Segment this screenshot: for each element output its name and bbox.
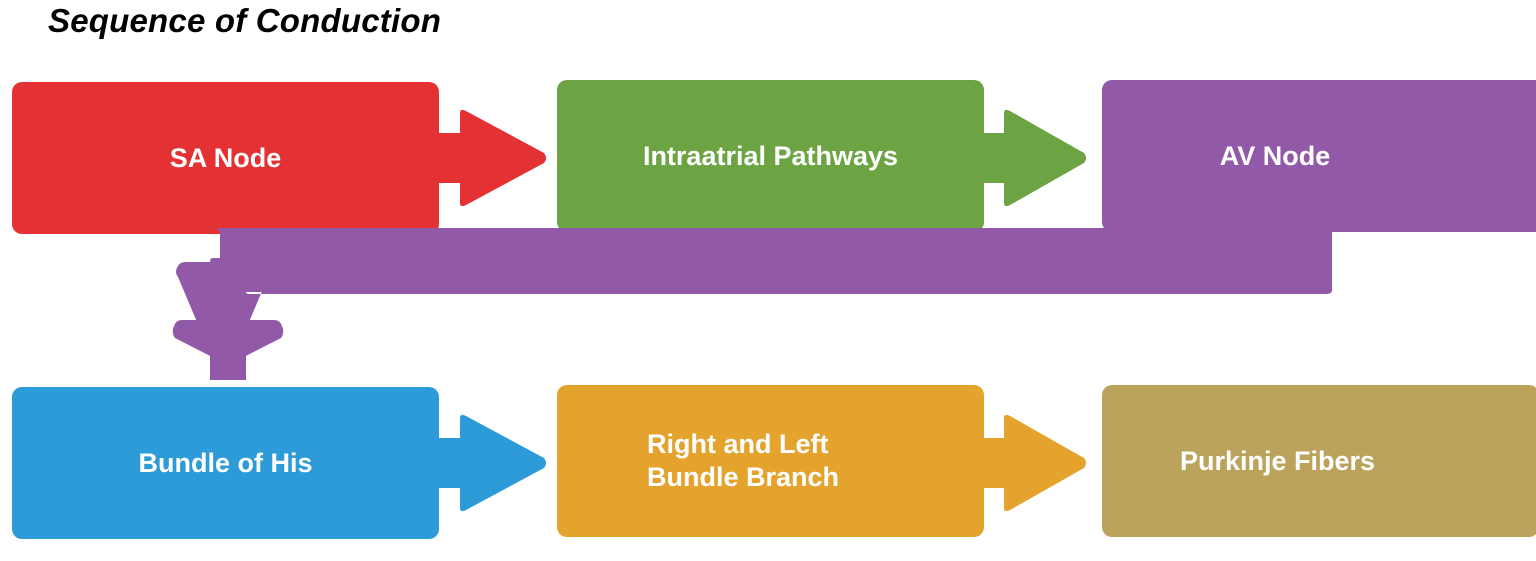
- node-intraatrial-pathways[interactable]: Intraatrial Pathways: [557, 80, 984, 232]
- connector-his-to-bundle-branch-arrow-icon: [430, 413, 548, 513]
- node-label-bundle-of-his: Bundle of His: [12, 447, 439, 480]
- connector-av-to-bundle-of-his-shape: [170, 228, 1332, 380]
- node-bundle-of-his[interactable]: Bundle of His: [12, 387, 439, 539]
- connector-sa-to-intraatrial-arrow-icon: [430, 108, 548, 208]
- node-label-right-and-left-bundle-branch: Right and Left Bundle Branch: [557, 428, 984, 494]
- node-right-and-left-bundle-branch[interactable]: Right and Left Bundle Branch: [557, 385, 984, 537]
- node-label-av-node: AV Node: [1102, 140, 1536, 173]
- diagram-canvas: Sequence of Conduction SA Node Intraatri…: [0, 0, 1536, 561]
- node-av-node[interactable]: AV Node: [1102, 80, 1536, 232]
- node-purkinje-fibers[interactable]: Purkinje Fibers: [1102, 385, 1536, 537]
- connector-intraatrial-to-av-arrow-icon: [976, 108, 1088, 208]
- page-title: Sequence of Conduction: [48, 2, 441, 40]
- node-label-sa-node: SA Node: [12, 142, 439, 175]
- node-sa-node[interactable]: SA Node: [12, 82, 439, 234]
- node-label-purkinje-fibers: Purkinje Fibers: [1102, 445, 1536, 478]
- connector-bundle-branch-to-purkinje-arrow-icon: [976, 413, 1088, 513]
- node-label-intraatrial-pathways: Intraatrial Pathways: [557, 140, 984, 173]
